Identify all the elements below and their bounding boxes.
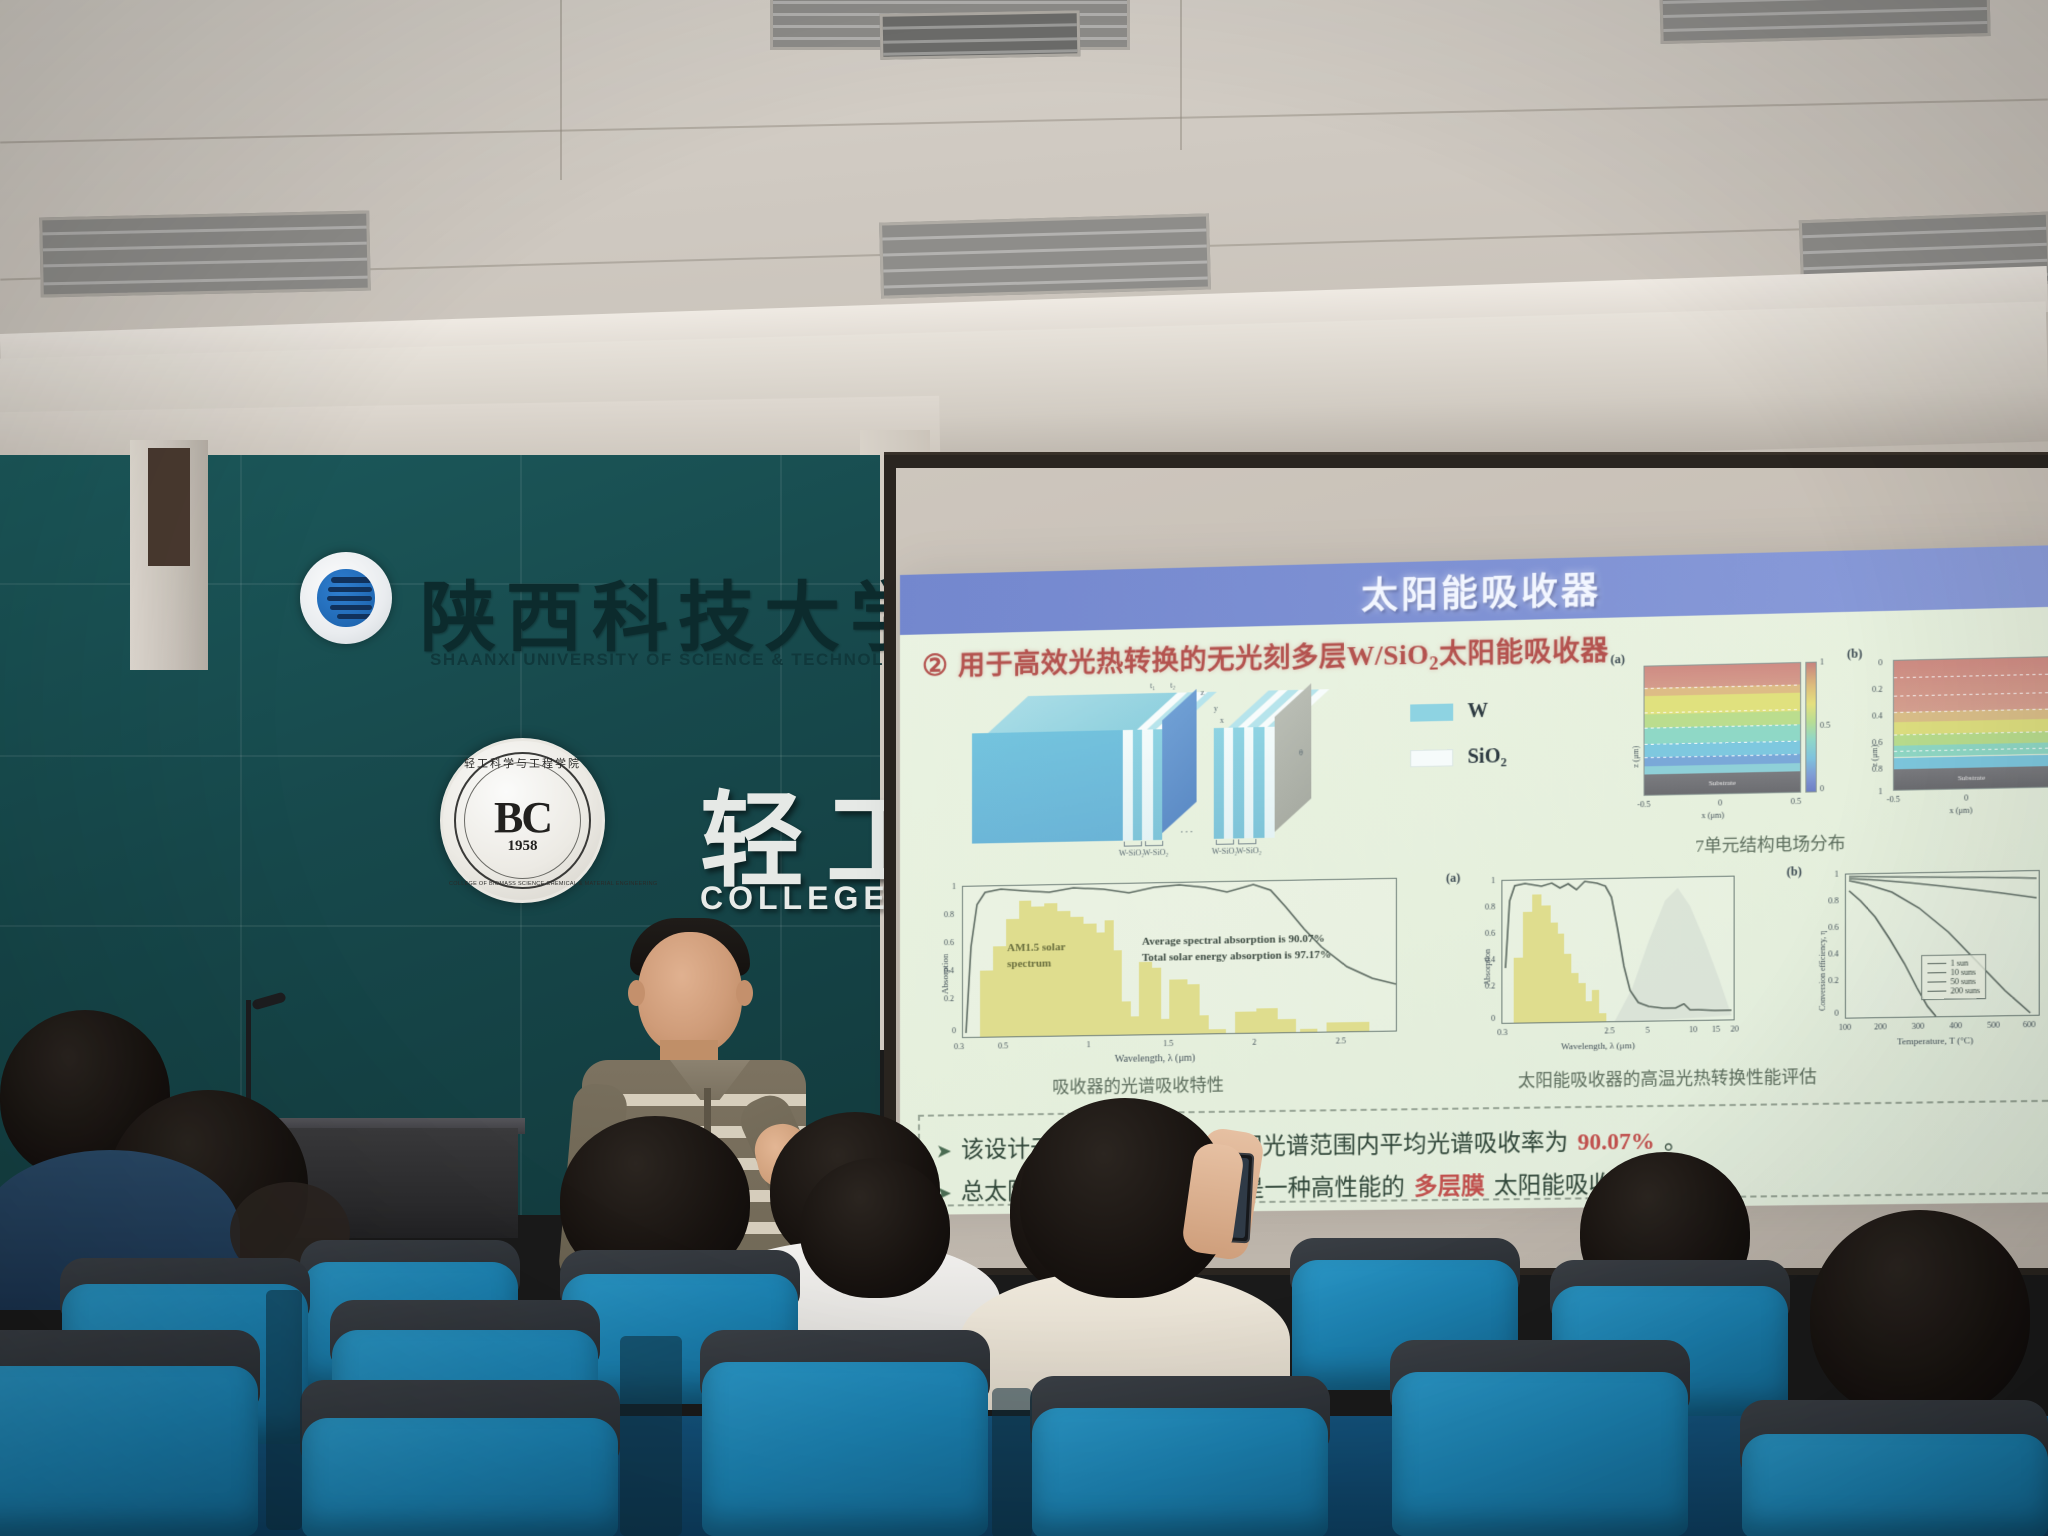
spectrum-ytick-1: 1 [952, 882, 956, 891]
heatmap-ylabel-b: z (μm) [1870, 745, 1879, 767]
efficiency-xlabel: Temperature, T (°C) [1897, 1035, 1973, 1046]
chair-gap [992, 1388, 1032, 1536]
efficiency-xtick-500: 500 [1987, 1020, 2000, 1029]
efficiency-ytick-04: 0.4 [1828, 949, 1838, 958]
legend-item: W [1410, 699, 1507, 724]
heatmap-ytick-5: 1 [1878, 787, 1882, 796]
heatmap-panel-b: Substrate [1893, 656, 2048, 791]
figure-structure-schematic: t₁ t₂ z y x W-SiO₂ W-SiO₂ ... [966, 681, 1401, 861]
spectrum-xtick-03: 0.3 [954, 1042, 964, 1051]
broadband-ytick-02: 0.2 [1485, 981, 1495, 990]
legend-item: SiO₂ [1410, 745, 1507, 770]
blackbody-fill [1502, 877, 1734, 1024]
heatmap-colorbar [1805, 662, 1816, 793]
chair-gap [620, 1336, 682, 1536]
plot-broadband-absorption [1501, 876, 1734, 1024]
ceiling [0, 0, 2048, 470]
plot-conversion-efficiency: 1 sun 10 suns 50 suns 200 suns [1845, 870, 2040, 1019]
spectrum-xtick-2: 2 [1252, 1038, 1256, 1047]
heatmap-xtick-mid-b: 0 [1964, 793, 1968, 802]
heatmap-xtick-max-a: 0.5 [1791, 797, 1801, 806]
legend-item-200-suns: 200 suns [1927, 986, 1980, 996]
solar-spectrum-label-line2: spectrum [1007, 957, 1051, 970]
heatmap-ylabel-a: z (μm) [1631, 746, 1640, 768]
plot-spectrum-absorption: AM1.5 solar spectrum Average spectral ab… [962, 878, 1397, 1038]
section-title-before: 用于高效光热转换的无光刻多层W/SiO [958, 639, 1429, 680]
colorbar-tick-max: 1 [1820, 657, 1824, 666]
ceiling-seam [560, 0, 562, 180]
heatmap-xtick-min-a: -0.5 [1637, 800, 1650, 809]
bullet-1-highlight: 90.07% [1577, 1128, 1654, 1155]
efficiency-ytick-08: 0.8 [1828, 896, 1838, 905]
efficiency-ytick-06: 0.6 [1828, 923, 1838, 932]
broadband-xtick-5: 5 [1646, 1026, 1650, 1035]
legend-label-w: W [1468, 700, 1489, 724]
heatmap-xlabel-a: x (μm) [1701, 811, 1724, 821]
wall-pillar-accent [148, 448, 190, 566]
presenter-ear-right [736, 980, 753, 1006]
heatmap-ytick-2: 0.4 [1872, 711, 1882, 720]
bullet-arrow-icon: ➤ [936, 1140, 952, 1163]
efficiency-xtick-200: 200 [1874, 1022, 1887, 1031]
solar-spectrum-label-line1: AM1.5 solar [1007, 941, 1065, 954]
figure-caption-field: 7单元结构电场分布 [1695, 829, 1845, 857]
audience-head [1810, 1210, 2030, 1420]
colorbar-tick-min: 0 [1820, 784, 1824, 793]
broadband-xtick-10: 10 [1689, 1025, 1697, 1034]
spectrum-ytick-0: 0 [952, 1026, 956, 1035]
legend-swatch-w [1410, 704, 1453, 722]
figure-caption-spectrum: 吸收器的光谱吸收特性 [1052, 1070, 1224, 1098]
college-seal-icon: 轻工科学与工程学院 BC 1958 COLLEGE OF BIOMASS SCI… [440, 738, 605, 903]
bullet-1-text-after: 。 [1664, 1121, 1688, 1156]
section-title: 用于高效光热转换的无光刻多层W/SiO2太阳能吸收器 [958, 628, 1609, 686]
ceiling-air-vent [39, 211, 371, 298]
broadband-ytick-1: 1 [1491, 876, 1495, 885]
ceiling-air-vent [879, 213, 1211, 298]
spectrum-ytick-02: 0.2 [944, 994, 954, 1003]
presenter-head [638, 932, 742, 1054]
spectrum-ytick-06: 0.6 [944, 938, 954, 947]
figure-caption-efficiency: 太阳能吸收器的高温光热转换性能评估 [1518, 1062, 1817, 1092]
slide-title: 太阳能吸收器 [1361, 561, 1601, 620]
heatmap-xtick-min-b: -0.5 [1887, 795, 1900, 804]
slide-section-heading: ② 用于高效光热转换的无光刻多层W/SiO2太阳能吸收器 [922, 628, 1609, 687]
spectrum-xtick-25: 2.5 [1336, 1036, 1346, 1045]
heatmap-panel-a: Substrate [1644, 662, 1802, 796]
college-seal-text-en: COLLEGE OF BIOMASS SCIENCE CHEMICAL & MA… [449, 881, 596, 887]
heatmap-substrate-label-b: Substrate [1894, 766, 2048, 790]
legend-label-10-suns: 10 suns [1950, 968, 1975, 978]
broadband-ytick-08: 0.8 [1485, 902, 1495, 911]
spectrum-xtick-05: 0.5 [998, 1041, 1008, 1050]
colorbar-tick-mid: 0.5 [1820, 721, 1830, 730]
audience-head [800, 1158, 950, 1298]
heatmap-ytick-4: 0.8 [1872, 764, 1882, 773]
heatmap-ytick-1: 0.2 [1872, 685, 1882, 694]
legend-label-200-suns: 200 suns [1950, 986, 1980, 996]
efficiency-xtick-600: 600 [2023, 1020, 2036, 1029]
efficiency-legend: 1 sun 10 suns 50 suns 200 suns [1921, 954, 1986, 1000]
efficiency-ytick-02: 0.2 [1828, 976, 1838, 985]
college-seal-text-cn: 轻工科学与工程学院 [443, 755, 602, 771]
ceiling-air-vent [1659, 0, 1990, 44]
panel-tag-b: (b) [1847, 646, 1862, 662]
heatmap-ytick-0: 0 [1878, 658, 1882, 667]
section-title-subscript: 2 [1429, 654, 1439, 674]
heatmap-xtick-mid-a: 0 [1718, 798, 1722, 807]
spectrum-xlabel: Wavelength, λ (μm) [1115, 1053, 1195, 1065]
broadband-ytick-06: 0.6 [1485, 929, 1495, 938]
section-number: ② [922, 648, 948, 684]
heatmap-substrate-label-a: Substrate [1645, 771, 1801, 795]
section-title-after: 太阳能吸收器 [1439, 635, 1609, 669]
panel-tag-a: (a) [1610, 652, 1624, 668]
efficiency-xtick-300: 300 [1912, 1022, 1925, 1031]
broadband-xtick-25: 2.5 [1604, 1026, 1614, 1035]
efficiency-panel-tag: (b) [1787, 864, 1802, 880]
lecture-hall-photo: 陕西科技大学 SHAANXI UNIVERSITY OF SCIENCE & T… [0, 0, 2048, 1536]
efficiency-xtick-100: 100 [1839, 1023, 1852, 1032]
broadband-xtick-20: 20 [1730, 1024, 1738, 1033]
legend-swatch-sio2 [1410, 749, 1453, 767]
ceiling-seam [1180, 0, 1182, 150]
heatmap-ytick-3: 0.6 [1872, 738, 1882, 747]
ceiling-seam [0, 99, 2048, 144]
structure-legend: W SiO₂ [1410, 699, 1507, 792]
broadband-xlabel: Wavelength, λ (μm) [1561, 1040, 1635, 1051]
legend-label-50-suns: 50 suns [1950, 977, 1975, 987]
bullet-2-highlight: 多层膜 [1414, 1166, 1485, 1201]
broadband-panel-tag: (a) [1446, 871, 1460, 886]
university-name-en: SHAANXI UNIVERSITY OF SCIENCE & TECHNOLO… [430, 650, 926, 670]
presenter-ear-left [628, 980, 645, 1006]
spectrum-ytick-04: 0.4 [944, 966, 954, 975]
broadband-xtick-03: 0.3 [1497, 1028, 1507, 1037]
legend-label-1-sun: 1 sun [1950, 958, 1968, 968]
ceiling-air-vent [880, 10, 1081, 59]
spectrum-ytick-08: 0.8 [944, 910, 954, 919]
efficiency-xtick-400: 400 [1949, 1021, 1962, 1030]
efficiency-ytick-1: 1 [1834, 870, 1838, 879]
efficiency-ytick-0: 0 [1834, 1009, 1838, 1018]
spectrum-xtick-1: 1 [1087, 1040, 1091, 1049]
university-logo-icon [300, 552, 392, 644]
broadband-xtick-15: 15 [1712, 1025, 1720, 1034]
university-logo-mark [317, 569, 374, 626]
efficiency-ylabel: Conversion efficiency, η [1818, 931, 1827, 1011]
legend-label-sio2: SiO₂ [1468, 745, 1507, 769]
spectrum-xtick-15: 1.5 [1163, 1039, 1173, 1048]
chair-gap [266, 1290, 302, 1530]
heatmap-xlabel-b: x (μm) [1949, 806, 1972, 816]
broadband-ytick-04: 0.4 [1485, 955, 1495, 964]
broadband-ytick-0: 0 [1491, 1014, 1495, 1023]
